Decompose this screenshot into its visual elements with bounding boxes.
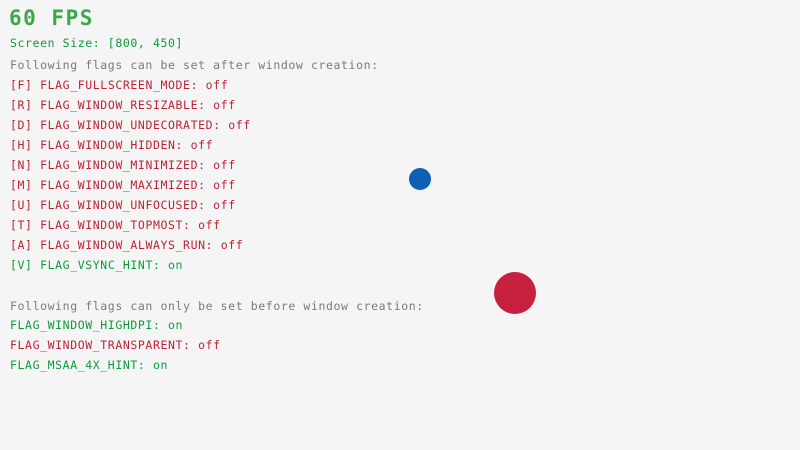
flag-state-value: off	[213, 158, 236, 172]
fps-counter: 60 FPS	[9, 6, 94, 30]
flag-row-flag-vsync-hint[interactable]: [V] FLAG_VSYNC_HINT: on	[10, 259, 183, 271]
red-ball-shape	[494, 272, 536, 314]
flag-shortcut-key: [V]	[10, 258, 40, 272]
flag-shortcut-key: [D]	[10, 118, 40, 132]
flag-row-flag-window-unfocused[interactable]: [U] FLAG_WINDOW_UNFOCUSED: off	[10, 199, 236, 211]
flag-state-value: off	[213, 98, 236, 112]
flag-row-flag-window-maximized[interactable]: [M] FLAG_WINDOW_MAXIMIZED: off	[10, 179, 236, 191]
flag-state-value: off	[198, 338, 221, 352]
flag-row-flag-window-always-run[interactable]: [A] FLAG_WINDOW_ALWAYS_RUN: off	[10, 239, 243, 251]
flag-shortcut-key: [N]	[10, 158, 40, 172]
flag-shortcut-key: [M]	[10, 178, 40, 192]
flag-name-label: FLAG_WINDOW_TRANSPARENT:	[10, 338, 198, 352]
runtime-flags-header: Following flags can be set after window …	[10, 59, 379, 71]
flag-state-value: on	[168, 258, 183, 272]
startup-flags-header: Following flags can only be set before w…	[10, 300, 424, 312]
flag-name-label: FLAG_WINDOW_MINIMIZED:	[40, 158, 213, 172]
blue-ball-shape	[409, 168, 431, 190]
flag-state-value: off	[213, 198, 236, 212]
flag-row-flag-window-undecorated[interactable]: [D] FLAG_WINDOW_UNDECORATED: off	[10, 119, 251, 131]
flag-name-label: FLAG_FULLSCREEN_MODE:	[40, 78, 206, 92]
flag-row-flag-msaa-4x-hint[interactable]: FLAG_MSAA_4X_HINT: on	[10, 359, 168, 371]
flag-shortcut-key: [U]	[10, 198, 40, 212]
flag-name-label: FLAG_WINDOW_RESIZABLE:	[40, 98, 213, 112]
flag-row-flag-window-resizable[interactable]: [R] FLAG_WINDOW_RESIZABLE: off	[10, 99, 236, 111]
flag-row-flag-window-highdpi[interactable]: FLAG_WINDOW_HIGHDPI: on	[10, 319, 183, 331]
screen-size-label: Screen Size: [800, 450]	[10, 37, 183, 49]
flag-row-flag-window-hidden[interactable]: [H] FLAG_WINDOW_HIDDEN: off	[10, 139, 213, 151]
flag-name-label: FLAG_VSYNC_HINT:	[40, 258, 168, 272]
flag-name-label: FLAG_MSAA_4X_HINT:	[10, 358, 153, 372]
flag-name-label: FLAG_WINDOW_UNDECORATED:	[40, 118, 228, 132]
flag-name-label: FLAG_WINDOW_HIDDEN:	[40, 138, 190, 152]
flag-row-flag-window-topmost[interactable]: [T] FLAG_WINDOW_TOPMOST: off	[10, 219, 221, 231]
flag-name-label: FLAG_WINDOW_ALWAYS_RUN:	[40, 238, 221, 252]
flag-state-value: off	[228, 118, 251, 132]
flag-state-value: off	[206, 78, 229, 92]
flag-row-flag-window-minimized[interactable]: [N] FLAG_WINDOW_MINIMIZED: off	[10, 159, 236, 171]
flag-shortcut-key: [R]	[10, 98, 40, 112]
flag-state-value: on	[153, 358, 168, 372]
flag-shortcut-key: [T]	[10, 218, 40, 232]
flag-shortcut-key: [A]	[10, 238, 40, 252]
flag-state-value: on	[168, 318, 183, 332]
flag-name-label: FLAG_WINDOW_UNFOCUSED:	[40, 198, 213, 212]
flag-row-flag-window-transparent[interactable]: FLAG_WINDOW_TRANSPARENT: off	[10, 339, 221, 351]
flag-state-value: off	[213, 178, 236, 192]
flag-state-value: off	[198, 218, 221, 232]
flag-shortcut-key: [F]	[10, 78, 40, 92]
flag-state-value: off	[191, 138, 214, 152]
flag-state-value: off	[221, 238, 244, 252]
flag-row-flag-fullscreen-mode[interactable]: [F] FLAG_FULLSCREEN_MODE: off	[10, 79, 228, 91]
flag-name-label: FLAG_WINDOW_TOPMOST:	[40, 218, 198, 232]
flag-name-label: FLAG_WINDOW_MAXIMIZED:	[40, 178, 213, 192]
flag-name-label: FLAG_WINDOW_HIGHDPI:	[10, 318, 168, 332]
flag-shortcut-key: [H]	[10, 138, 40, 152]
raylib-window: 60 FPS Screen Size: [800, 450] Following…	[0, 0, 800, 450]
